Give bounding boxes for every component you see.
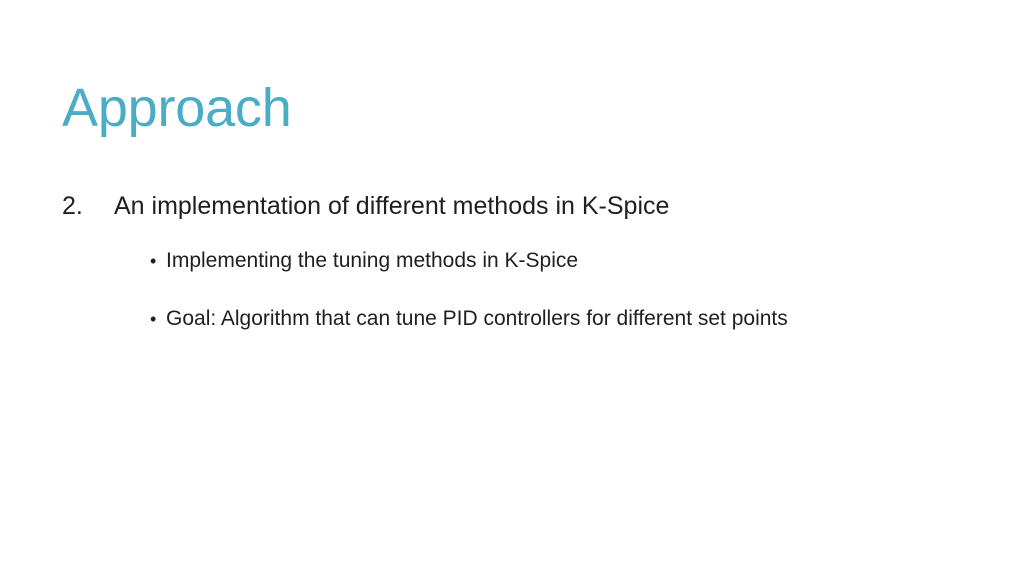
- bullet-item-text: Goal: Algorithm that can tune PID contro…: [166, 302, 884, 336]
- numbered-item-text: An implementation of different methods i…: [114, 186, 942, 226]
- page-title: Approach: [62, 77, 292, 139]
- list-number-marker: 2.: [62, 186, 114, 226]
- bullet-dot-icon: •: [150, 244, 166, 278]
- slide: Approach 2. An implementation of differe…: [0, 0, 1024, 576]
- slide-body: 2. An implementation of different method…: [62, 186, 942, 336]
- bullet-item-text: Implementing the tuning methods in K-Spi…: [166, 244, 884, 278]
- bullet-list: • Implementing the tuning methods in K-S…: [62, 244, 942, 336]
- list-item: • Implementing the tuning methods in K-S…: [150, 244, 942, 278]
- bullet-dot-icon: •: [150, 302, 166, 336]
- numbered-list-item: 2. An implementation of different method…: [62, 186, 942, 226]
- list-item: • Goal: Algorithm that can tune PID cont…: [150, 302, 942, 336]
